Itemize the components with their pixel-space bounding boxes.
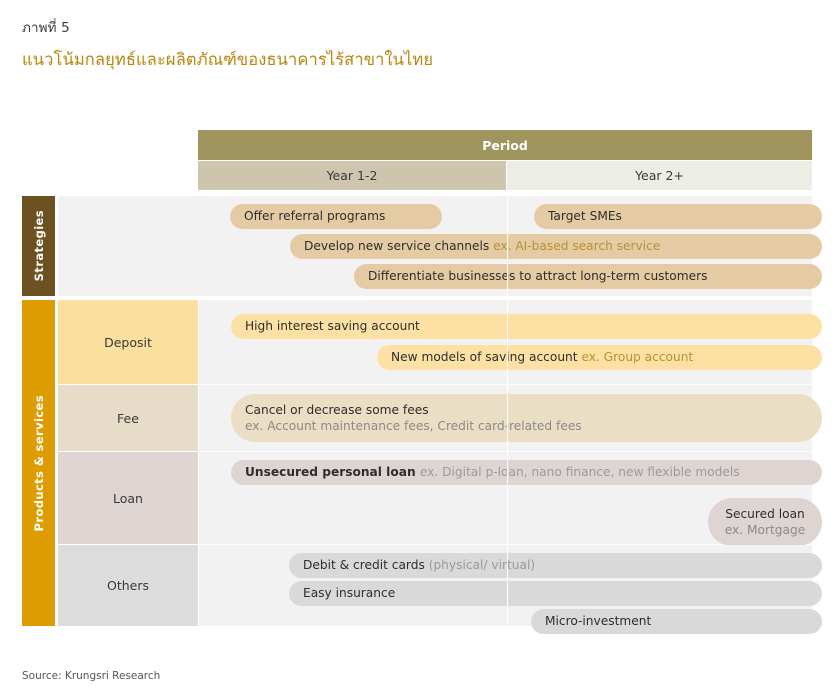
- item-pill[interactable]: High interest saving account: [231, 314, 822, 339]
- row-label-deposit: Deposit: [58, 300, 198, 384]
- figure-label: ภาพที่ 5: [22, 16, 70, 38]
- item-pill[interactable]: Unsecured personal loan ex. Digital p-lo…: [231, 460, 822, 485]
- item-pill-text: Offer referral programs: [244, 208, 428, 224]
- item-pill[interactable]: Debit & credit cards (physical/ virtual): [289, 553, 822, 578]
- page-title: แนวโน้มกลยุทธ์และผลิตภัณฑ์ของธนาคารไร้สา…: [22, 47, 433, 73]
- item-pill[interactable]: Easy insurance: [289, 581, 822, 606]
- table-row-fee: Fee Cancel or decrease some fees ex. Acc…: [58, 385, 812, 451]
- row-field-loan: Unsecured personal loan ex. Digital p-lo…: [199, 452, 812, 544]
- item-pill-text: Develop new service channels ex. AI-base…: [304, 238, 808, 254]
- item-pill[interactable]: Differentiate businesses to attract long…: [354, 264, 822, 289]
- source-note: Source: Krungsri Research: [22, 670, 160, 682]
- row-label-fee: Fee: [58, 385, 198, 451]
- item-pill-text: Debit & credit cards (physical/ virtual): [303, 557, 808, 573]
- section-spine-products-label: Products & services: [32, 395, 46, 531]
- item-pill-text: Micro-investment: [545, 613, 808, 629]
- row-field-deposit: High interest saving account New models …: [199, 300, 812, 384]
- item-pill[interactable]: Micro-investment: [531, 609, 822, 634]
- item-pill[interactable]: Secured loan ex. Mortgage: [708, 498, 822, 546]
- item-pill-text: Secured loan: [725, 506, 805, 522]
- item-pill-subtext: ex. Account maintenance fees, Credit car…: [245, 418, 808, 434]
- roadmap-table: Period Year 1-2 Year 2+ Strategies Produ…: [22, 130, 812, 630]
- item-pill-subtext: ex. Mortgage: [725, 522, 805, 538]
- item-pill-text: New models of saving account ex. Group a…: [391, 349, 808, 365]
- item-pill[interactable]: Offer referral programs: [230, 204, 442, 229]
- figure-page: ภาพที่ 5 แนวโน้มกลยุทธ์และผลิตภัณฑ์ของธน…: [0, 0, 840, 700]
- item-pill-text: Target SMEs: [548, 208, 808, 224]
- row-field-others: Debit & credit cards (physical/ virtual)…: [199, 545, 812, 626]
- table-row-loan: Loan Unsecured personal loan ex. Digital…: [58, 452, 812, 544]
- item-pill[interactable]: New models of saving account ex. Group a…: [377, 345, 822, 370]
- item-pill[interactable]: Target SMEs: [534, 204, 822, 229]
- row-label-loan: Loan: [58, 452, 198, 544]
- item-pill-text: Unsecured personal loan ex. Digital p-lo…: [245, 464, 808, 480]
- item-pill[interactable]: Develop new service channels ex. AI-base…: [290, 234, 822, 259]
- section-spine-strategies: Strategies: [22, 196, 55, 296]
- row-field-fee: Cancel or decrease some fees ex. Account…: [199, 385, 812, 451]
- column-header-year-1-2: Year 1-2: [198, 161, 506, 190]
- item-pill-text: Easy insurance: [303, 585, 808, 601]
- column-header-year-2-plus: Year 2+: [507, 161, 812, 190]
- section-spine-strategies-label: Strategies: [32, 210, 46, 281]
- item-pill-text: High interest saving account: [245, 318, 808, 334]
- table-row-deposit: Deposit High interest saving account New…: [58, 300, 812, 384]
- item-pill[interactable]: Cancel or decrease some fees ex. Account…: [231, 394, 822, 442]
- row-field-strategies: Offer referral programs Target SMEs Deve…: [58, 196, 812, 296]
- table-header-period: Period: [198, 130, 812, 160]
- table-row-others: Others Debit & credit cards (physical/ v…: [58, 545, 812, 626]
- row-label-others: Others: [58, 545, 198, 626]
- table-row-strategies: Offer referral programs Target SMEs Deve…: [58, 196, 812, 296]
- section-spine-products: Products & services: [22, 300, 55, 626]
- item-pill-text: Differentiate businesses to attract long…: [368, 268, 808, 284]
- item-pill-text: Cancel or decrease some fees: [245, 402, 808, 418]
